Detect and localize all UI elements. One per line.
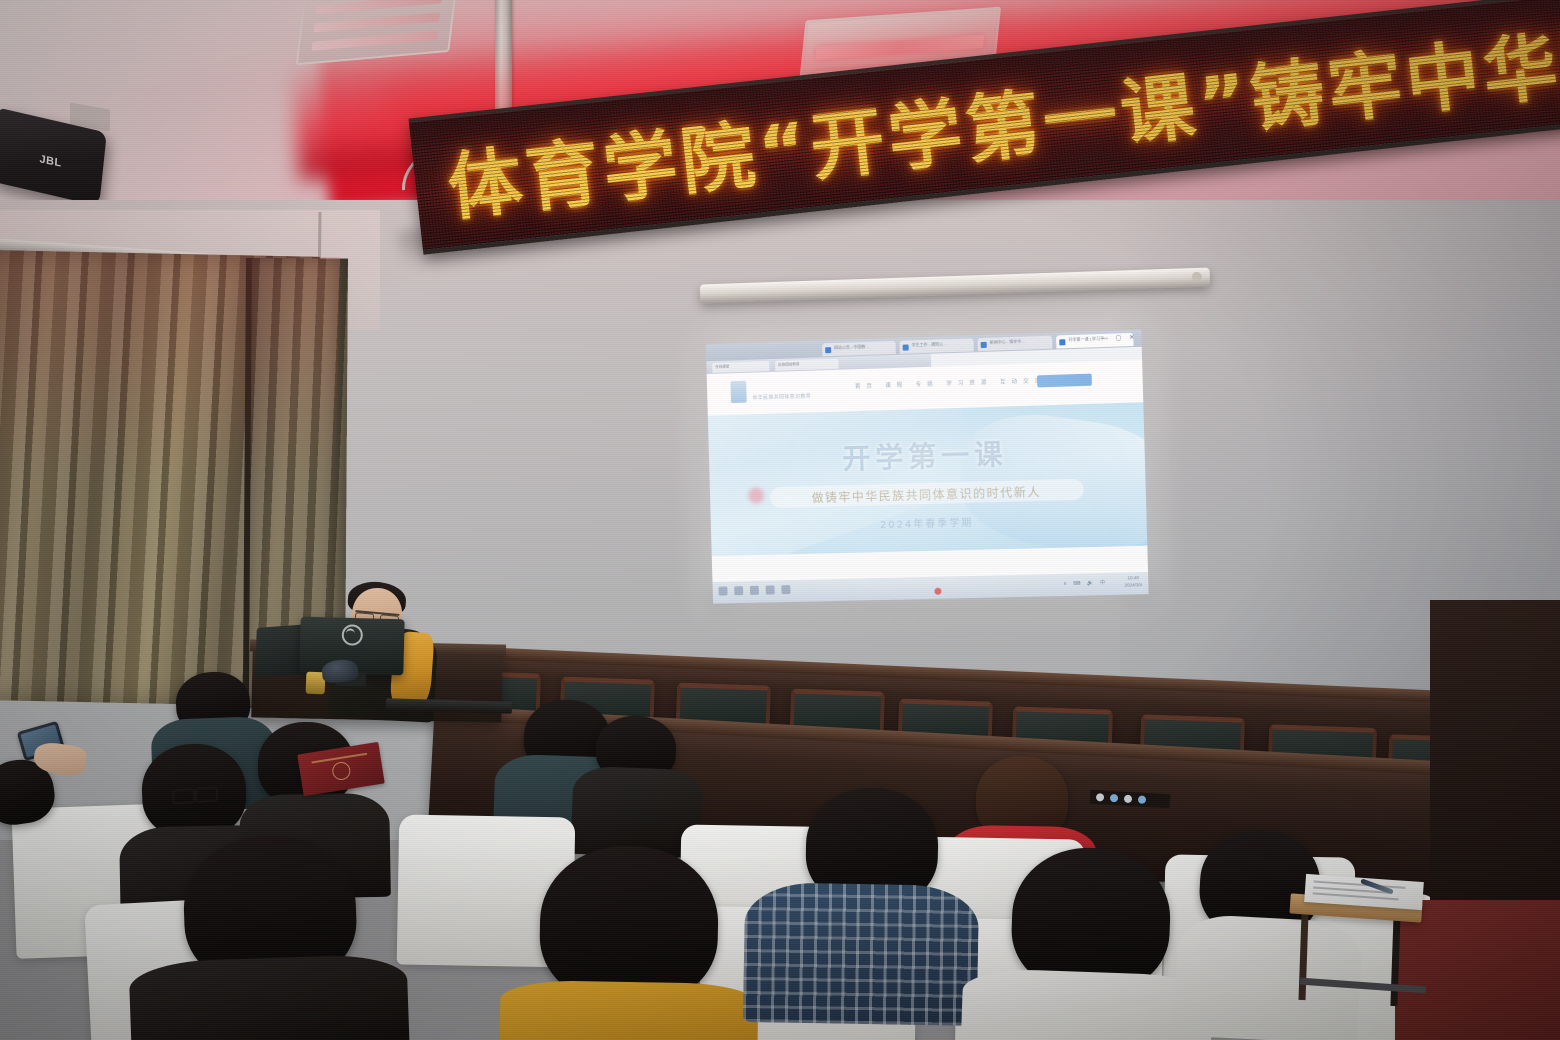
taskbar-icon[interactable] <box>734 586 743 595</box>
browser-tab[interactable]: 学生工作 - 通知公… <box>899 338 973 353</box>
dell-logo-icon <box>342 624 364 646</box>
site-name: 中华民族共同体意识教育 <box>752 393 811 402</box>
browser-tab[interactable]: 网站公告 - 中国教… <box>822 341 896 356</box>
taskbar-icon[interactable] <box>781 585 790 594</box>
projection-screen: 网站公告 - 中国教… 学生工作 - 通知公… 新闻中心 - 铸牢中… 开学第一… <box>706 330 1149 604</box>
roller-end-cap <box>1192 272 1202 282</box>
audience-torso <box>1173 913 1363 1040</box>
audience-torso-plaid <box>743 882 979 1026</box>
login-button[interactable] <box>1037 374 1092 388</box>
window-controls[interactable]: — ▢ ✕ <box>1102 334 1138 342</box>
browser-tab[interactable]: 民族团结教育 <box>775 359 839 371</box>
favicon-icon <box>903 344 909 350</box>
browser-tab[interactable]: 在线课堂 <box>712 361 769 373</box>
site-logo-icon <box>730 381 746 403</box>
taskbar-icon[interactable] <box>766 585 775 594</box>
audience-torso <box>129 953 410 1040</box>
favicon-icon <box>981 341 987 347</box>
right-wall-dark-panel <box>1430 600 1560 920</box>
favicon-icon <box>1059 339 1065 345</box>
lecture-hall-photo: JBL 体育学院“开学第一课”铸牢中华民族共同体意识 <box>0 0 1560 1040</box>
booklet-emblem-icon <box>331 760 352 781</box>
recording-indicator-icon <box>934 588 941 595</box>
curtain-red-light-wash <box>0 250 340 487</box>
browser-tab[interactable]: 新闻中心 - 铸牢中… <box>977 336 1052 352</box>
audience-torso-yellow-hoodie <box>499 980 758 1040</box>
taskbar-icon[interactable] <box>750 586 759 595</box>
taskbar-icon[interactable] <box>718 586 727 595</box>
jbl-logo: JBL <box>39 154 62 170</box>
eyeglasses-icon <box>172 786 219 800</box>
favicon-icon <box>825 347 831 353</box>
system-tray[interactable]: ∧ ⌨ 🔊 中 <box>1063 579 1108 587</box>
taskbar-clock[interactable]: 10:48 2024/3/4 <box>1124 575 1142 589</box>
hero-banner: 开学第一课 做铸牢中华民族共同体意识的时代新人 2024年春季学期 <box>708 402 1147 556</box>
